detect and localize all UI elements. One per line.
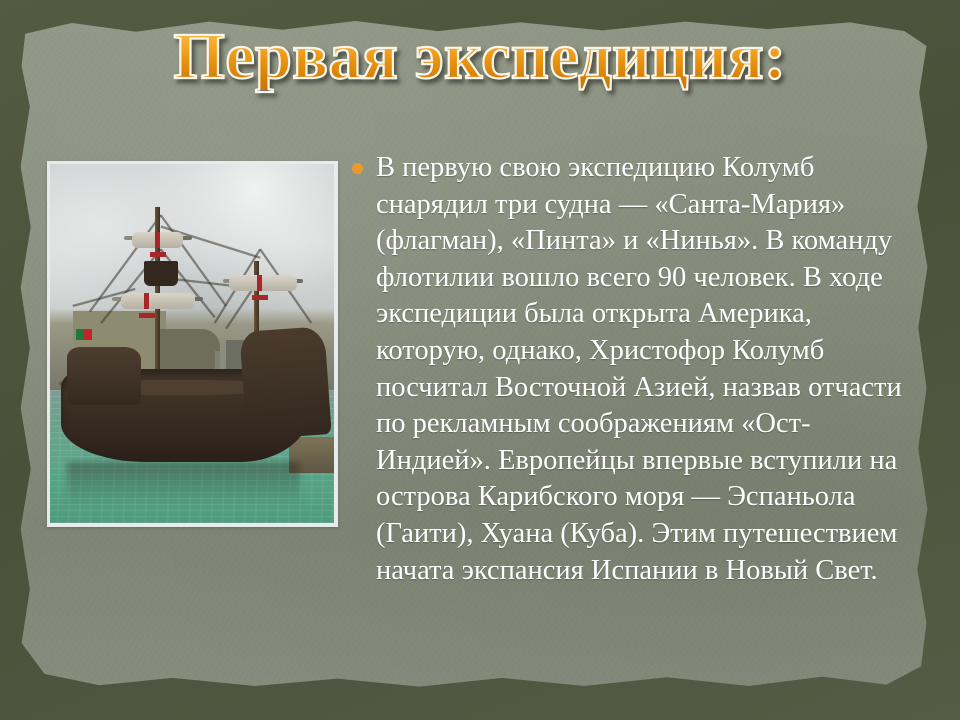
bullet-item-text: В первую свою экспедицию Колумб снарядил… <box>376 150 904 589</box>
slide-body-content: В первую свою экспедицию Колумб снарядил… <box>352 150 904 589</box>
photo-ship-furled-sail <box>229 275 297 291</box>
photo-ship-reflection <box>67 462 300 505</box>
photo-ship-flag <box>76 329 92 340</box>
photo-ship-crows-nest <box>144 261 178 286</box>
bullet-dot-icon <box>352 163 363 174</box>
presentation-slide: Первая экспедиция: <box>0 0 960 720</box>
photo-ship-forecastle <box>67 347 141 404</box>
bullet-list-item: В первую свою экспедицию Колумб снарядил… <box>352 150 904 589</box>
photo-ship-stern-castle <box>239 326 331 439</box>
photo-sailing-ship <box>50 164 334 523</box>
photo-sail-red-cross <box>252 295 268 300</box>
photo-frame <box>47 161 338 527</box>
photo-sail-red-cross <box>139 313 155 318</box>
photo-sail-red-cross <box>150 252 166 257</box>
slide-title: Первая экспедиция: <box>0 24 960 90</box>
photo-sail-red-cross <box>257 275 262 291</box>
photo-sail-red-cross <box>144 293 149 309</box>
photo-ship-furled-sail <box>121 293 195 309</box>
photo-sail-red-cross <box>155 232 160 248</box>
